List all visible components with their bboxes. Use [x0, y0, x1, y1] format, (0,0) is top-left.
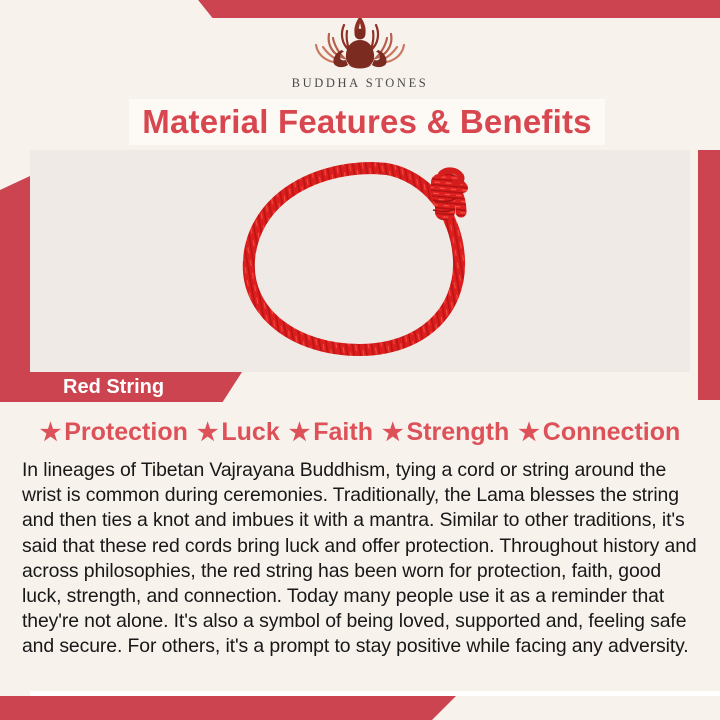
- brand-logo: BUDDHA STONES: [0, 12, 720, 91]
- benefit-item: ★ Protection: [40, 418, 188, 447]
- benefit-label: Faith: [313, 418, 373, 447]
- benefit-item: ★ Connection: [518, 418, 680, 447]
- decor-bar-bottom: [0, 696, 600, 720]
- benefit-label: Luck: [221, 418, 279, 447]
- star-icon: ★: [197, 421, 219, 445]
- description-text: In lineages of Tibetan Vajrayana Buddhis…: [22, 458, 698, 660]
- product-label: Red String: [63, 376, 164, 399]
- benefit-label: Connection: [543, 418, 681, 447]
- brand-name: BUDDHA STONES: [292, 76, 429, 91]
- page-title-band: Material Features & Benefits: [129, 99, 605, 145]
- page-title: Material Features & Benefits: [142, 103, 591, 141]
- benefit-item: ★ Luck: [197, 418, 280, 447]
- product-label-banner: Red String: [0, 372, 242, 402]
- benefit-item: ★ Faith: [289, 418, 373, 447]
- star-icon: ★: [518, 421, 540, 445]
- benefit-label: Protection: [64, 418, 188, 447]
- benefits-row: ★ Protection ★ Luck ★ Faith ★ Strength ★…: [0, 418, 720, 447]
- red-string-bracelet-image: [235, 156, 485, 366]
- star-icon: ★: [40, 421, 62, 445]
- benefit-item: ★ Strength: [382, 418, 509, 447]
- decor-bar-left: [0, 176, 30, 376]
- product-image-panel: [30, 150, 690, 372]
- benefit-label: Strength: [406, 418, 509, 447]
- lotus-meditation-icon: [304, 12, 416, 74]
- decor-strip-bottom: [30, 691, 720, 696]
- poster-root: BUDDHA STONES Material Features & Benefi…: [0, 0, 720, 720]
- star-icon: ★: [382, 421, 404, 445]
- star-icon: ★: [289, 421, 311, 445]
